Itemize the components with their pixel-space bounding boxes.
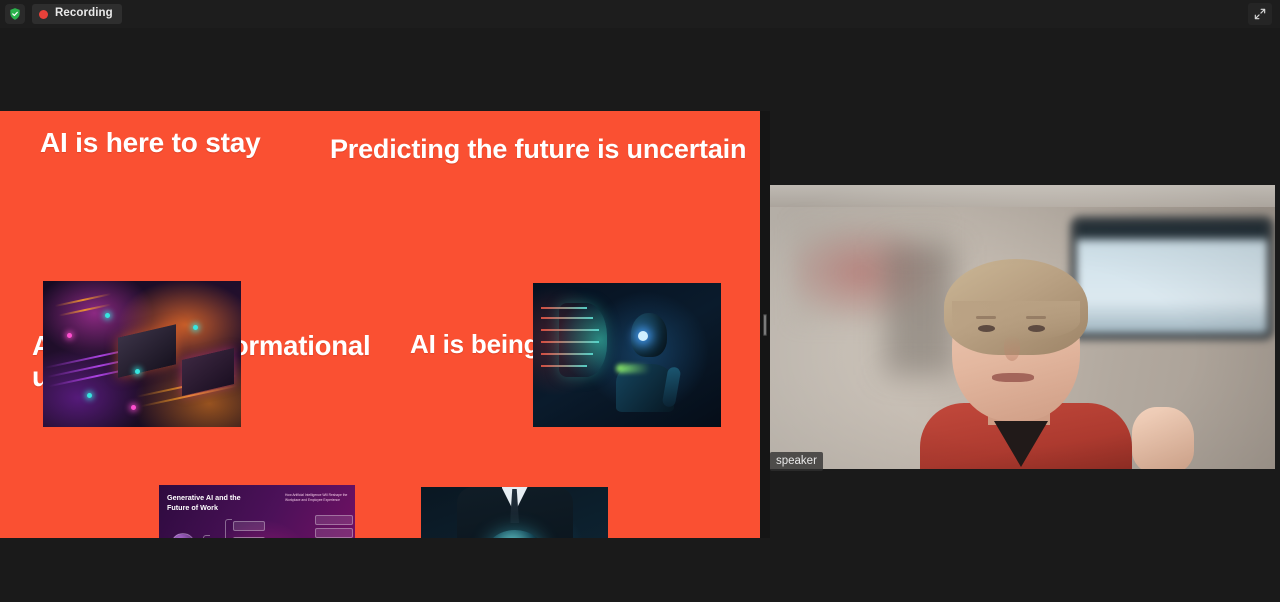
recording-indicator[interactable]: Recording [32,4,122,24]
shared-screen-slide[interactable]: AI is here to stay Predicting the future… [0,111,760,538]
speaker-video-tile[interactable] [770,185,1275,469]
infographic-title: Generative AI and the Future of Work [167,493,259,514]
meeting-top-bar: Recording [0,0,1280,28]
businessman-holographic-brain-image [421,487,608,538]
ai-robot-thinking-image [533,283,721,427]
panel-resize-handle[interactable] [760,111,770,538]
speaker-name-label: speaker [770,452,823,471]
recording-dot-icon [39,10,48,19]
video-soft-focus-overlay [770,185,1275,469]
verified-shield-icon[interactable] [5,4,25,24]
generative-ai-future-of-work-infographic: Generative AI and the Future of Work How… [159,485,355,538]
resize-grip-icon [763,314,767,336]
slide-heading-ai-here-to-stay: AI is here to stay [40,127,260,159]
neon-circuit-board-image [43,281,241,427]
expand-arrows-icon[interactable] [1248,3,1272,25]
infographic-subtitle: How Artificial Intelligence Will Reshape… [285,493,349,504]
slide-heading-predicting-future: Predicting the future is uncertain [330,134,746,165]
recording-label: Recording [55,8,113,20]
